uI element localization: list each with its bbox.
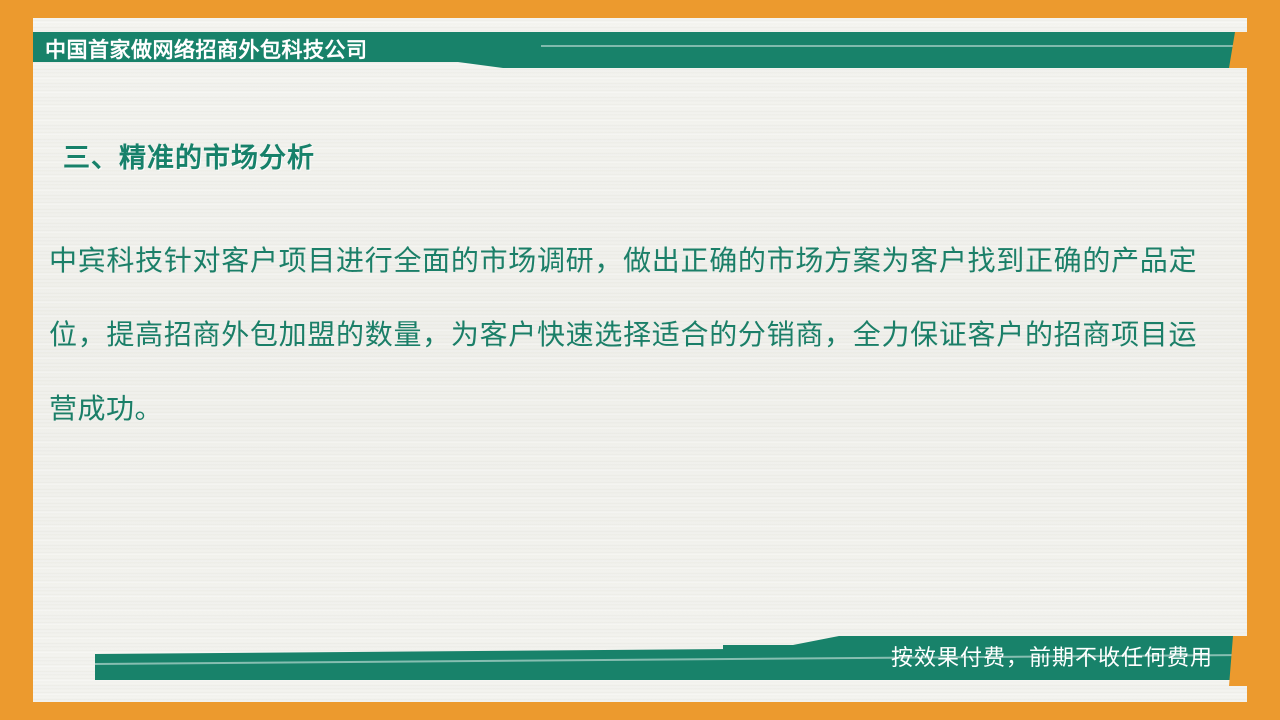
header-divider-line (541, 45, 1235, 47)
slide-header: 中国首家做网络招商外包科技公司 (33, 32, 1247, 68)
body-paragraph: 中宾科技针对客户项目进行全面的市场调研，做出正确的市场方案为客户找到正确的产品定… (49, 224, 1197, 446)
slide-content: 三、精准的市场分析 中宾科技针对客户项目进行全面的市场调研，做出正确的市场方案为… (33, 110, 1247, 610)
footer-right-notch (1229, 636, 1253, 686)
slide-footer: 按效果付费，前期不收任何费用 (33, 636, 1247, 686)
body-text-block: 中宾科技针对客户项目进行全面的市场调研，做出正确的市场方案为客户找到正确的产品定… (49, 224, 1197, 446)
footer-tagline: 按效果付费，前期不收任何费用 (891, 640, 1213, 678)
section-heading: 三、精准的市场分析 (63, 136, 315, 175)
slide-root: 中国首家做网络招商外包科技公司 三、精准的市场分析 中宾科技针对客户项目进行全面… (0, 0, 1280, 720)
header-title: 中国首家做网络招商外包科技公司 (45, 32, 368, 68)
